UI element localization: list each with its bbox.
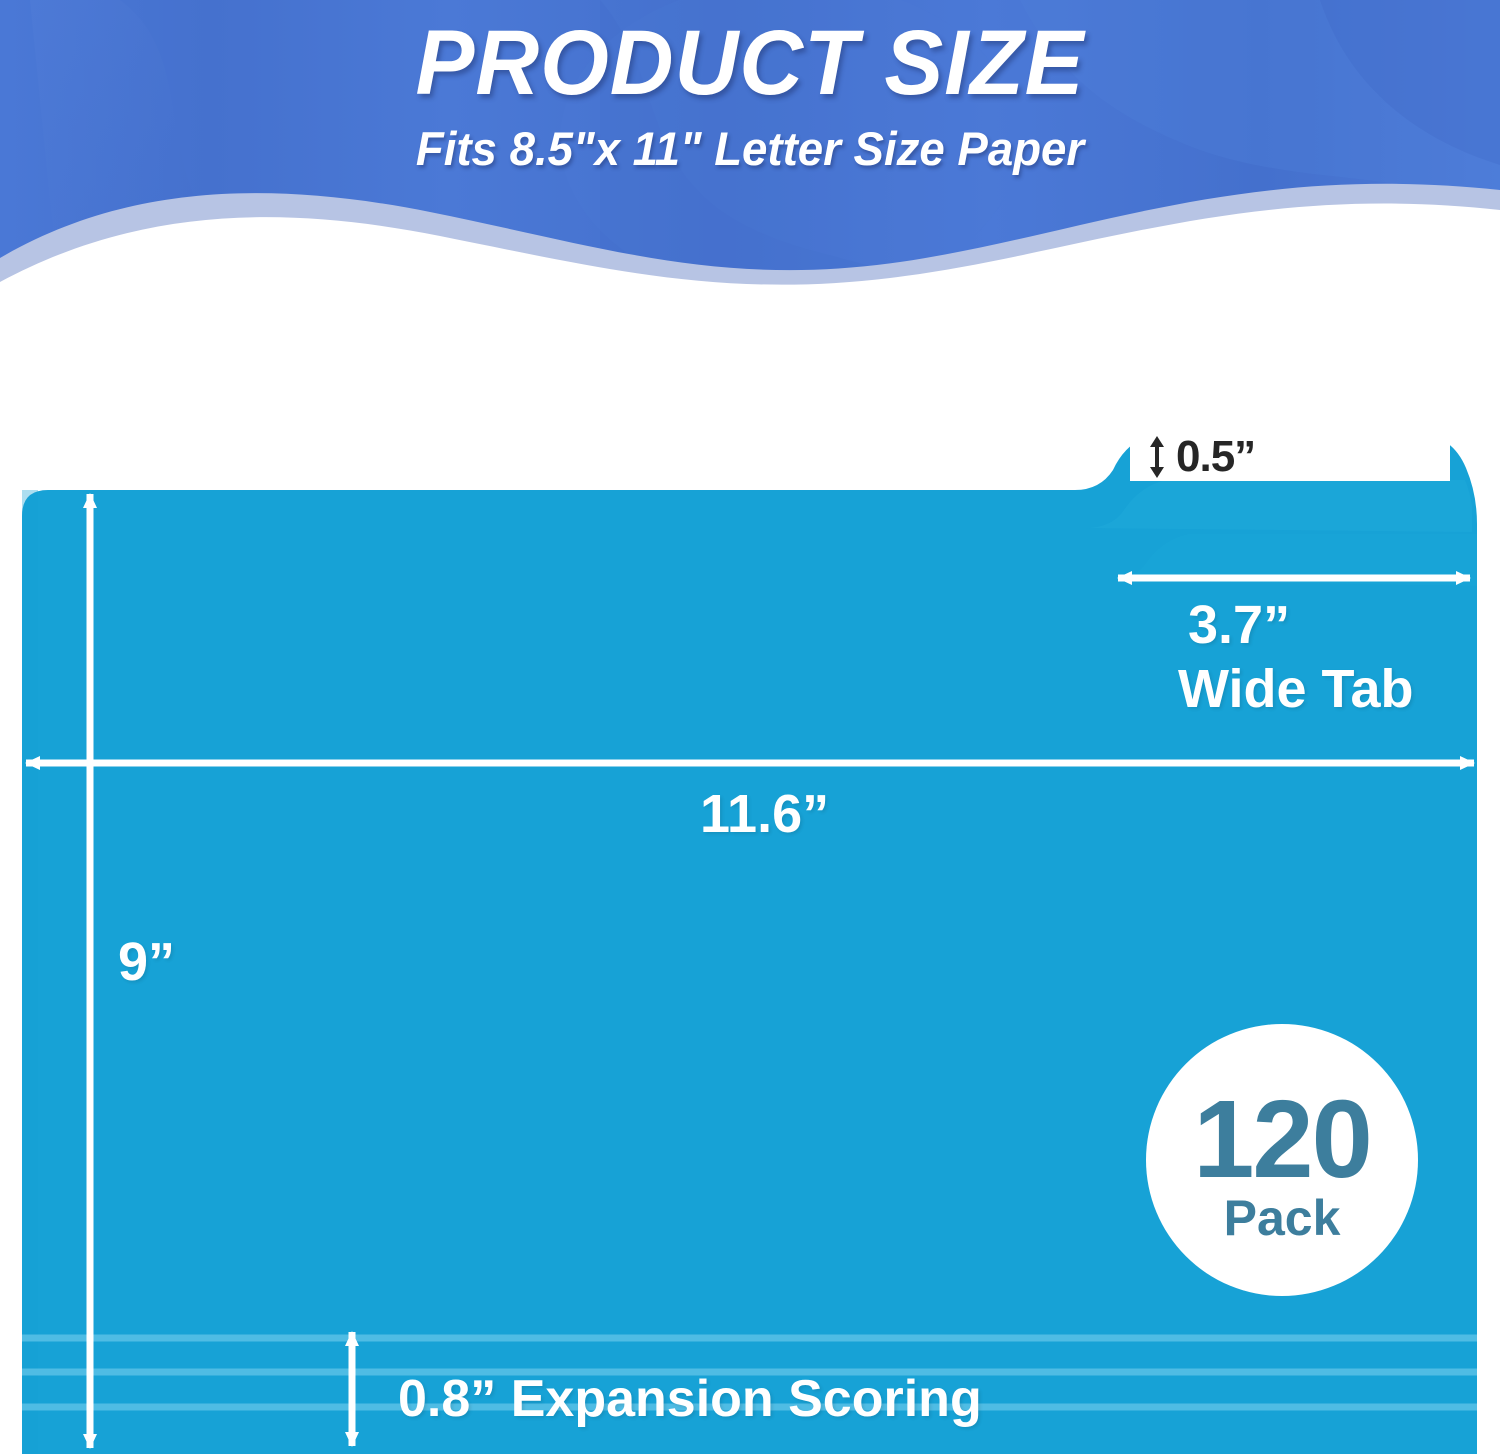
product-size-infographic: PRODUCT SIZE Fits 8.5"x 11" Letter Size …: [0, 0, 1500, 1454]
folder-illustration: [0, 420, 1500, 1454]
expansion-scoring-caption: 0.8” Expansion Scoring: [398, 1373, 982, 1425]
folder-width-value: 11.6”: [700, 787, 829, 841]
header-banner: PRODUCT SIZE Fits 8.5"x 11" Letter Size …: [0, 0, 1500, 300]
page-title: PRODUCT SIZE: [30, 18, 1470, 108]
folder-left-shading: [22, 490, 38, 1454]
folder-height-value: 9”: [118, 935, 175, 989]
tab-height-value: 0.5”: [1176, 435, 1255, 479]
pack-count-label: Pack: [1224, 1193, 1341, 1243]
tab-height-label-box: 0.5”: [1130, 433, 1450, 481]
pack-count-badge: 120 Pack: [1146, 1024, 1418, 1296]
tab-width-value: 3.7”: [1188, 598, 1290, 652]
page-subtitle: Fits 8.5"x 11" Letter Size Paper: [23, 124, 1478, 173]
tab-width-caption: Wide Tab: [1178, 662, 1414, 716]
header-text-block: PRODUCT SIZE Fits 8.5"x 11" Letter Size …: [0, 18, 1500, 174]
vertical-double-arrow-icon: [1144, 435, 1170, 479]
folder-body-shape: [22, 435, 1477, 1454]
pack-count-number: 120: [1193, 1089, 1371, 1190]
